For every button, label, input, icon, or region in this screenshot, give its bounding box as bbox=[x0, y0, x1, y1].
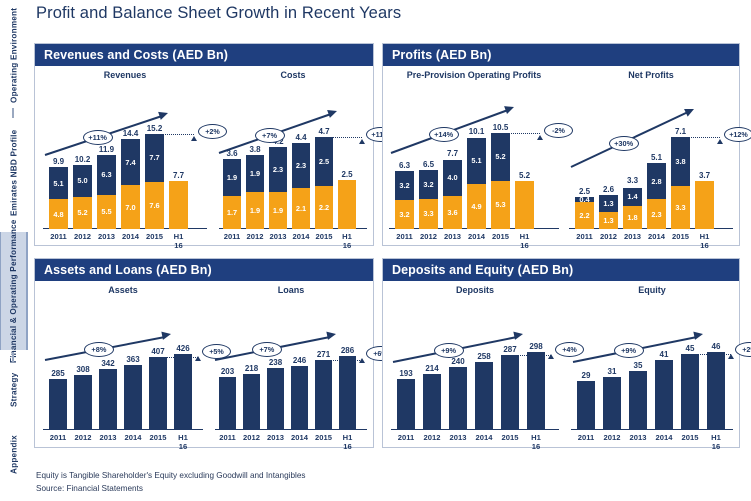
sidebar-item-strategy[interactable]: Strategy bbox=[0, 362, 28, 418]
x-axis-label: 2015 bbox=[667, 232, 694, 241]
x-axis-label: 2014 bbox=[463, 232, 490, 241]
x-axis-label: 2011 bbox=[571, 232, 598, 241]
cagr-label: +14% bbox=[429, 127, 459, 142]
growth-indicator-triangle bbox=[548, 354, 554, 359]
panel-title: Profits (AED Bn) bbox=[383, 44, 739, 67]
x-axis-label: H116 bbox=[523, 433, 549, 451]
panel-title: Assets and Loans (AED Bn) bbox=[35, 259, 373, 282]
cagr-label: +7% bbox=[252, 342, 282, 357]
x-axis-label: 2014 bbox=[120, 433, 146, 442]
x-axis-label: H116 bbox=[165, 232, 192, 250]
sidebar-item-label: Appendix bbox=[10, 436, 19, 475]
page-title: Profit and Balance Sheet Growth in Recen… bbox=[36, 4, 401, 23]
growth-indicator-triangle bbox=[195, 356, 201, 361]
x-axis-label: 2015 bbox=[145, 433, 171, 442]
cagr-trend-arrow bbox=[387, 282, 563, 430]
growth-badge: +12% bbox=[724, 127, 751, 142]
panel-body: Deposits 1932142402582872982011201220132… bbox=[383, 282, 739, 448]
growth-indicator-triangle bbox=[537, 135, 543, 140]
chart-assets: Assets 285308342363407426201120122013201… bbox=[39, 282, 207, 448]
cagr-label: +9% bbox=[614, 343, 644, 358]
x-axis-label: 2012 bbox=[415, 232, 442, 241]
cagr-label: +8% bbox=[84, 342, 114, 357]
cagr-label: +30% bbox=[609, 136, 639, 151]
growth-indicator-triangle bbox=[717, 139, 723, 144]
comparison-dotted-line bbox=[149, 357, 198, 358]
sidebar-divider bbox=[12, 108, 14, 118]
growth-badge: +2% bbox=[735, 342, 751, 357]
sidebar-item-financial-operating-performance[interactable]: Financial & Operating Performance bbox=[0, 232, 28, 350]
sidebar-nav: Operating Environment Emirates NBD Profi… bbox=[0, 0, 28, 501]
sidebar-item-appendix[interactable]: Appendix bbox=[0, 424, 28, 486]
panel-profits: Profits (AED Bn) Pre-Provision Operating… bbox=[382, 43, 740, 246]
cagr-trend-arrow bbox=[39, 67, 211, 229]
x-axis-label: 2012 bbox=[599, 433, 625, 442]
x-axis-label: 2013 bbox=[619, 232, 646, 241]
x-axis-label: 2015 bbox=[677, 433, 703, 442]
sidebar-item-emirates-nbd-profile[interactable]: Emirates NBD Profile bbox=[0, 118, 28, 228]
cagr-label: +9% bbox=[434, 343, 464, 358]
x-axis-label: 2011 bbox=[215, 433, 240, 442]
sidebar-item-label: Financial & Operating Performance bbox=[9, 219, 18, 363]
footer-notes: Equity is Tangible Shareholder's Equity … bbox=[36, 469, 306, 495]
panel-body: Assets 285308342363407426201120122013201… bbox=[35, 282, 373, 448]
chart-pre-provision-operating-profits: Pre-Provision Operating Profits 3.23.26.… bbox=[385, 67, 563, 246]
x-axis-label: 2013 bbox=[93, 232, 120, 241]
panel-deposits-and-equity: Deposits and Equity (AED Bn) Deposits 19… bbox=[382, 258, 740, 448]
cagr-trend-arrow bbox=[215, 67, 371, 229]
x-axis-label: 2013 bbox=[439, 232, 466, 241]
x-axis-label: 2014 bbox=[651, 433, 677, 442]
x-axis-label: 2012 bbox=[595, 232, 622, 241]
x-axis-label: 2012 bbox=[70, 433, 96, 442]
x-axis-label: 2011 bbox=[393, 433, 419, 442]
chart-deposits: Deposits 1932142402582872982011201220132… bbox=[387, 282, 563, 448]
x-axis-label: 2012 bbox=[419, 433, 445, 442]
x-axis-label: 2014 bbox=[471, 433, 497, 442]
chart-costs: Costs 1.91.73.61.91.93.82.31.94.22.32.14… bbox=[215, 67, 371, 246]
x-axis-label: 2013 bbox=[263, 433, 288, 442]
x-axis-label: 2015 bbox=[487, 232, 514, 241]
x-axis-label: 2014 bbox=[117, 232, 144, 241]
comparison-dotted-line bbox=[681, 354, 731, 355]
cagr-trend-arrow bbox=[567, 282, 737, 430]
panel-title: Deposits and Equity (AED Bn) bbox=[383, 259, 739, 282]
panel-title: Revenues and Costs (AED Bn) bbox=[35, 44, 373, 67]
x-axis-label: 2012 bbox=[239, 433, 264, 442]
growth-indicator-triangle bbox=[359, 139, 365, 144]
x-axis-label: 2012 bbox=[69, 232, 96, 241]
x-axis-label: 2014 bbox=[643, 232, 670, 241]
footer-source: Source: Financial Statements bbox=[36, 482, 306, 495]
sidebar-item-label: Operating Environment bbox=[10, 7, 19, 102]
x-axis-label: H116 bbox=[691, 232, 718, 250]
sidebar-item-operating-environment[interactable]: Operating Environment bbox=[0, 2, 28, 108]
cagr-trend-arrow bbox=[385, 67, 563, 229]
footer-note: Equity is Tangible Shareholder's Equity … bbox=[36, 469, 306, 482]
x-axis-label: H116 bbox=[334, 232, 360, 250]
chart-loans: Loans 2032182382462712862011201220132014… bbox=[211, 282, 371, 448]
comparison-dotted-line bbox=[145, 134, 194, 135]
chart-equity: Equity 29313541454620112012201320142015H… bbox=[567, 282, 737, 448]
panel-body: Revenues 5.14.89.95.05.210.26.35.511.97.… bbox=[35, 67, 373, 246]
sidebar-item-label: Strategy bbox=[10, 373, 19, 407]
x-axis-label: 2014 bbox=[287, 433, 312, 442]
x-axis-label: 2011 bbox=[45, 433, 71, 442]
x-axis-label: 2011 bbox=[45, 232, 72, 241]
chart-revenues: Revenues 5.14.89.95.05.210.26.35.511.97.… bbox=[39, 67, 211, 246]
x-axis-label: H116 bbox=[511, 232, 538, 250]
x-axis-label: 2013 bbox=[95, 433, 121, 442]
cagr-trend-arrow bbox=[211, 282, 371, 430]
comparison-dotted-line bbox=[315, 137, 362, 138]
x-axis-label: 2011 bbox=[391, 232, 418, 241]
comparison-dotted-line bbox=[491, 133, 540, 134]
comparison-dotted-line bbox=[501, 355, 551, 356]
comparison-dotted-line bbox=[671, 137, 720, 138]
comparison-dotted-line bbox=[315, 360, 362, 361]
chart-net-profits: Net Profits 0.42.22.51.31.32.61.41.83.32… bbox=[565, 67, 737, 246]
x-axis-label: 2015 bbox=[141, 232, 168, 241]
x-axis-label: 2011 bbox=[573, 433, 599, 442]
growth-indicator-triangle bbox=[359, 358, 365, 363]
x-axis-label: 2013 bbox=[445, 433, 471, 442]
sidebar-divider bbox=[12, 352, 14, 362]
x-axis-label: 2013 bbox=[625, 433, 651, 442]
growth-indicator-triangle bbox=[191, 136, 197, 141]
cagr-trend-arrow bbox=[39, 282, 207, 430]
panel-body: Pre-Provision Operating Profits 3.23.26.… bbox=[383, 67, 739, 246]
panel-revenues-and-costs: Revenues and Costs (AED Bn) Revenues 5.1… bbox=[34, 43, 374, 246]
x-axis-label: 2015 bbox=[311, 433, 336, 442]
sidebar-item-label: Emirates NBD Profile bbox=[10, 130, 19, 216]
x-axis-label: H116 bbox=[335, 433, 360, 451]
cagr-trend-arrow bbox=[565, 67, 737, 229]
growth-indicator-triangle bbox=[728, 354, 734, 359]
panel-assets-and-loans: Assets and Loans (AED Bn) Assets 2853083… bbox=[34, 258, 374, 448]
x-axis-label: 2015 bbox=[497, 433, 523, 442]
x-axis-label: H116 bbox=[703, 433, 729, 451]
x-axis-label: H116 bbox=[170, 433, 196, 451]
